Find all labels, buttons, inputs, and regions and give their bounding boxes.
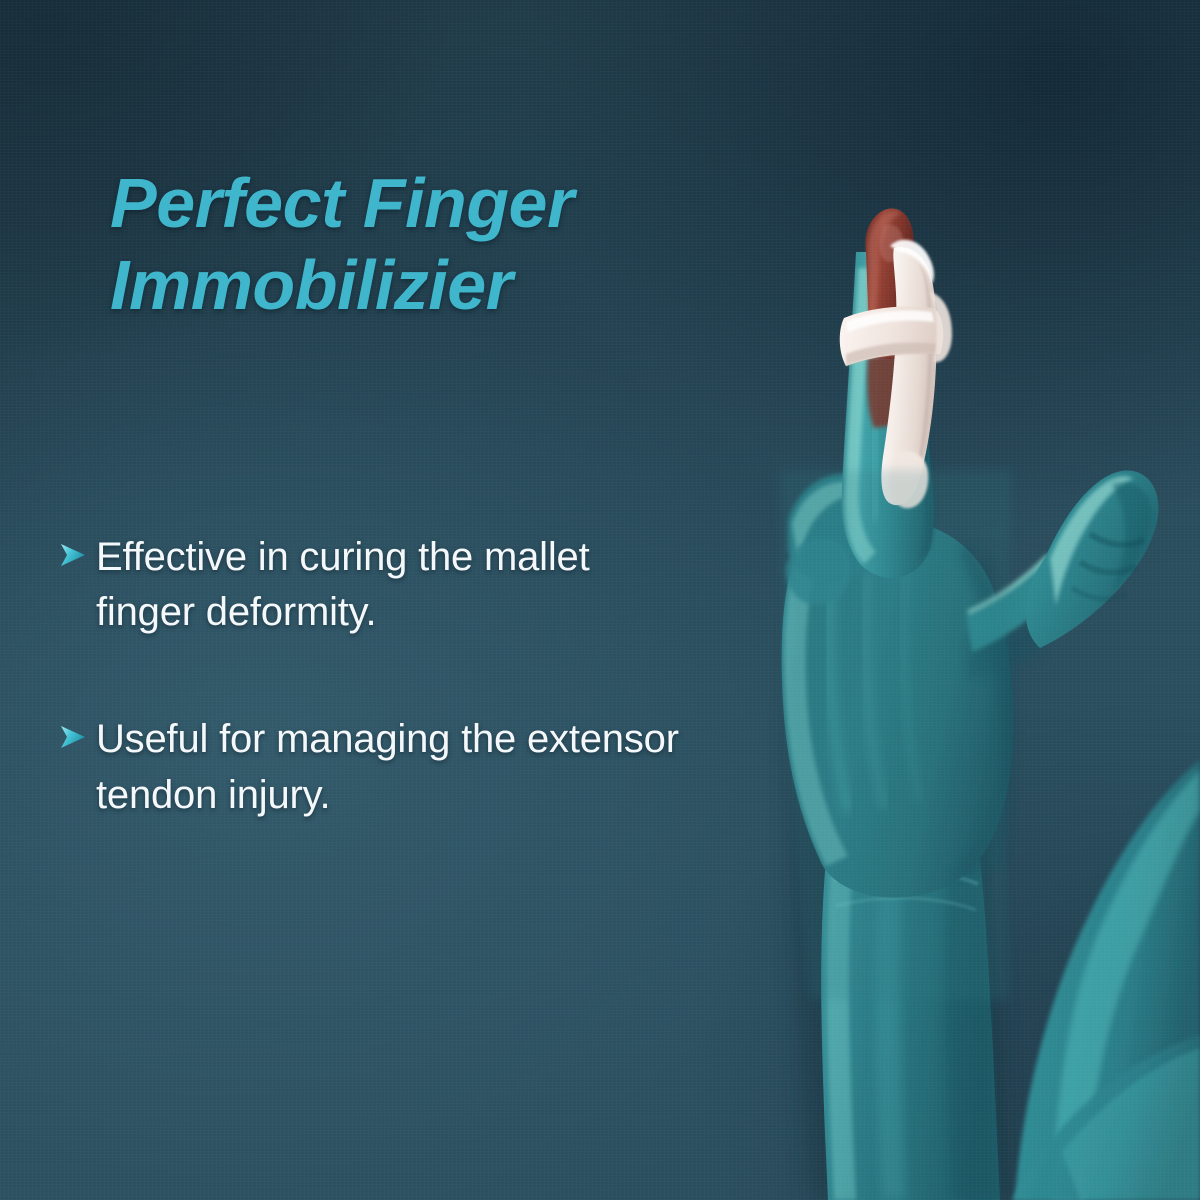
list-item: Effective in curing the mallet finger de…: [58, 530, 778, 640]
list-item-label: Effective in curing the mallet finger de…: [96, 530, 681, 640]
arrow-bullet-icon: [58, 530, 96, 569]
page-title: Perfect Finger Immobilizier: [110, 163, 750, 327]
arrow-bullet-icon: [58, 712, 96, 751]
list-item-label: Useful for managing the extensor tendon …: [96, 712, 778, 822]
slide-canvas: Perfect Finger Immobilizier Effective in…: [0, 0, 1200, 1200]
bullet-list: Effective in curing the mallet finger de…: [58, 530, 778, 823]
list-item: Useful for managing the extensor tendon …: [58, 712, 778, 822]
